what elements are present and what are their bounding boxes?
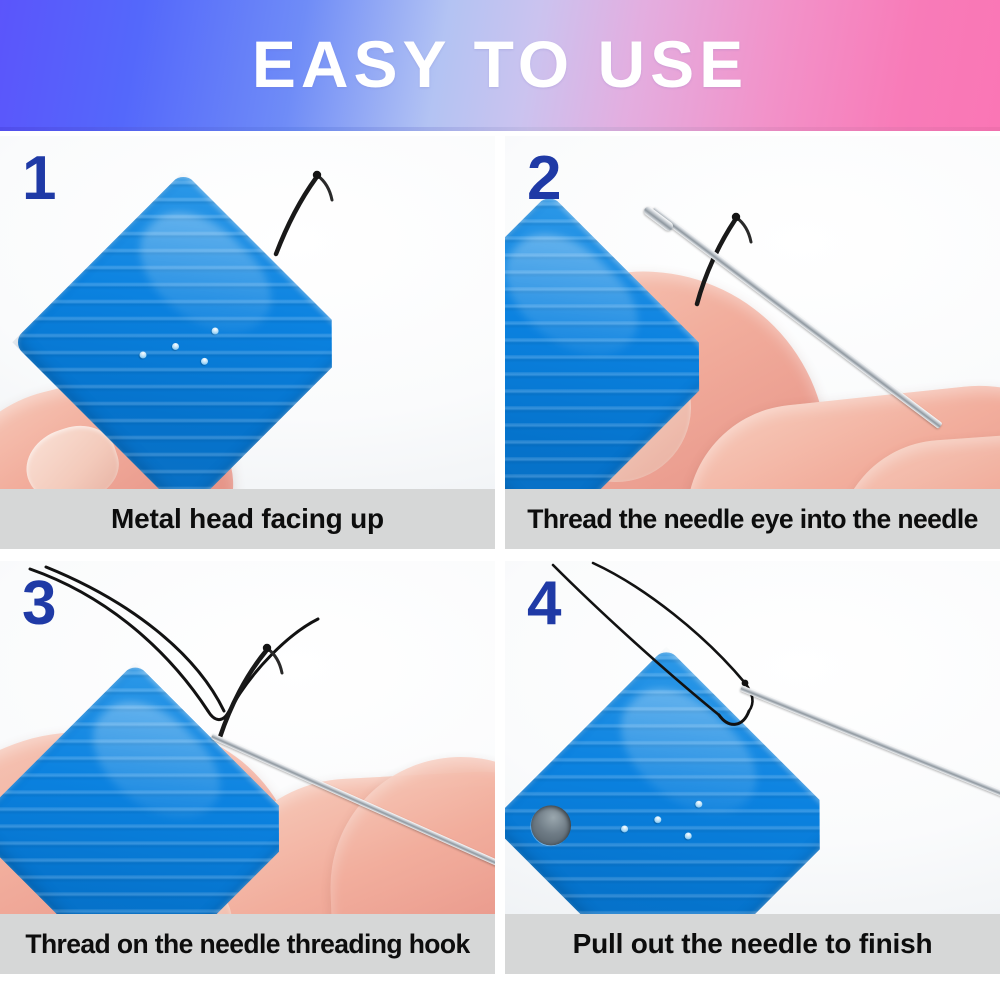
step-panel-2: 2 Thread the needle eye into the needle [505, 136, 1000, 549]
step-number-4: 4 [527, 573, 561, 635]
step-caption-bar-1: Metal head facing up [0, 489, 495, 549]
step-caption-4: Pull out the needle to finish [573, 928, 933, 960]
step-number-3: 3 [22, 573, 56, 635]
step-caption-3: Thread on the needle threading hook [25, 929, 469, 960]
step-panel-4: 4 Pull out the needle to finish [505, 561, 1000, 974]
page-title: EASY TO USE [252, 31, 748, 101]
step-photo-3: 3 [0, 561, 495, 914]
step-photo-2: 2 [505, 136, 1000, 489]
step-panel-1: 1 Metal head facing up [0, 136, 495, 549]
step-panel-3: 3 Thread on the needle threading hook [0, 561, 495, 974]
step-caption-bar-4: Pull out the needle to finish [505, 914, 1000, 974]
step-caption-2: Thread the needle eye into the needle [527, 504, 978, 535]
black-thread [505, 561, 1000, 901]
metal-wire-hook [673, 198, 803, 318]
steps-grid: 1 Metal head facing up [0, 136, 1000, 997]
step-caption-1: Metal head facing up [111, 503, 384, 535]
step-caption-bar-3: Thread on the needle threading hook [0, 914, 495, 974]
step-number-1: 1 [22, 148, 56, 210]
easy-to-use-infographic: EASY TO USE [0, 0, 1000, 997]
step-caption-bar-2: Thread the needle eye into the needle [505, 489, 1000, 549]
header-banner: EASY TO USE [0, 0, 1000, 131]
step-photo-4: 4 [505, 561, 1000, 914]
metal-wire-hook [250, 156, 370, 266]
metal-wire-hook [196, 621, 336, 751]
step-photo-1: 1 [0, 136, 495, 489]
banner-underline [0, 127, 1000, 131]
step-number-2: 2 [527, 148, 561, 210]
